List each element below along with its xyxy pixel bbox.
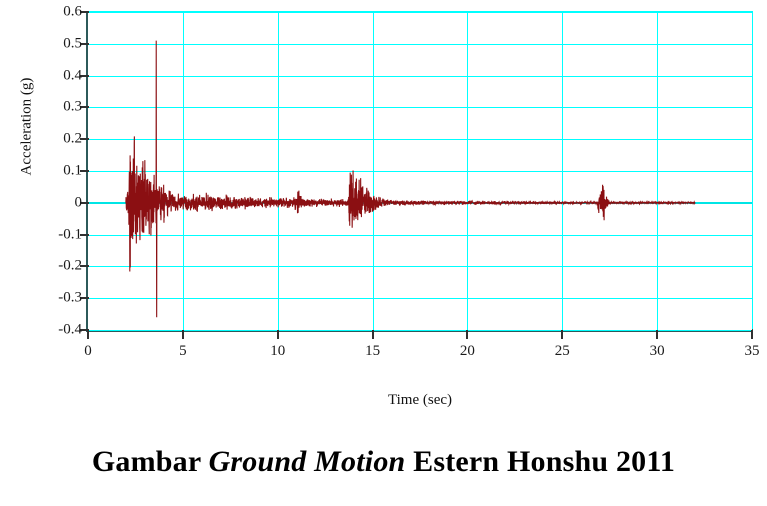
y-axis-tick-label: -0.4: [58, 322, 82, 339]
y-axis-tick-label: 0.6: [63, 4, 82, 21]
x-axis-tick: [87, 330, 89, 339]
x-axis-tick-label: 0: [84, 343, 92, 360]
x-axis-title: Time (sec): [88, 392, 752, 409]
caption-emphasis: Ground Motion: [209, 445, 406, 478]
x-axis-tick-label: 20: [460, 343, 475, 360]
x-axis-tick: [372, 330, 374, 339]
y-axis-tick-label: 0.2: [63, 131, 82, 148]
x-axis-tick-label: 35: [745, 343, 760, 360]
y-axis-tick-label: 0.4: [63, 67, 82, 84]
y-axis-tick-label: -0.3: [58, 290, 82, 307]
y-axis-tick-label: 0.1: [63, 163, 82, 180]
gridline-horizontal: [88, 330, 752, 331]
figure-container: -0.4-0.3-0.2-0.100.10.20.30.40.50.6 0510…: [0, 0, 767, 506]
x-axis-tick-label: 5: [179, 343, 187, 360]
y-axis-tick-label: -0.1: [58, 226, 82, 243]
x-axis-tick-label: 15: [365, 343, 380, 360]
figure-caption: Gambar Ground Motion Estern Honshu 2011: [0, 445, 767, 479]
y-axis-tick-labels: -0.4-0.3-0.2-0.100.10.20.30.40.50.6: [0, 12, 82, 330]
x-axis-tick: [561, 330, 563, 339]
x-axis-tick-label: 25: [555, 343, 570, 360]
x-axis-tick-label: 30: [650, 343, 665, 360]
caption-suffix: Estern Honshu 2011: [405, 445, 675, 478]
acceleration-waveform: [88, 12, 752, 330]
x-axis-tick: [656, 330, 658, 339]
x-axis-tick: [751, 330, 753, 339]
y-axis-tick-label: -0.2: [58, 258, 82, 275]
x-axis-tick: [277, 330, 279, 339]
y-axis-tick-label: 0: [75, 194, 83, 211]
waveform-path: [126, 41, 696, 318]
caption-prefix: Gambar: [92, 445, 209, 478]
x-axis-tick: [182, 330, 184, 339]
plot-area: [88, 12, 752, 330]
x-axis-tick-label: 10: [270, 343, 285, 360]
x-axis-tick-labels: 05101520253035: [88, 343, 752, 365]
y-axis-title: Acceleration (g): [19, 52, 36, 202]
y-axis-tick-label: 0.5: [63, 35, 82, 52]
x-axis-tick: [466, 330, 468, 339]
y-axis-tick-label: 0.3: [63, 99, 82, 116]
